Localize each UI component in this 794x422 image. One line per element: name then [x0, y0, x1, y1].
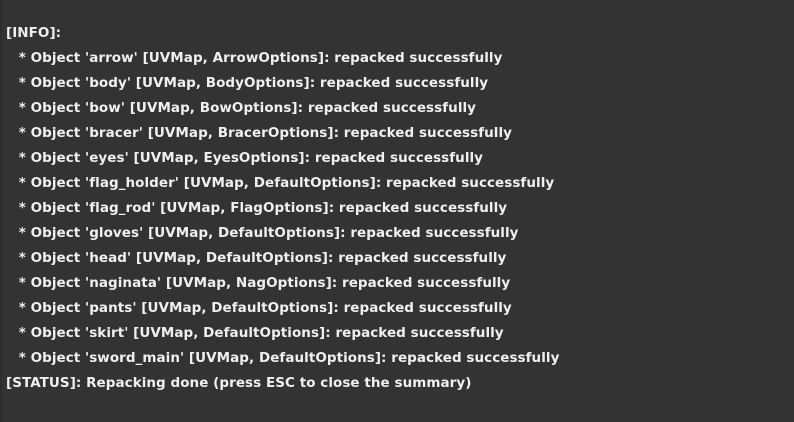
log-line-object-body: * Object 'body' [UVMap, BodyOptions]: re…	[0, 71, 794, 96]
log-line-info-header: [INFO]:	[0, 21, 794, 46]
log-line-object-pants: * Object 'pants' [UVMap, DefaultOptions]…	[0, 296, 794, 321]
log-line-object-bracer: * Object 'bracer' [UVMap, BracerOptions]…	[0, 121, 794, 146]
log-line-object-head: * Object 'head' [UVMap, DefaultOptions]:…	[0, 246, 794, 271]
log-line-object-flag-holder: * Object 'flag_holder' [UVMap, DefaultOp…	[0, 171, 794, 196]
log-line-object-arrow: * Object 'arrow' [UVMap, ArrowOptions]: …	[0, 46, 794, 71]
log-line-object-eyes: * Object 'eyes' [UVMap, EyesOptions]: re…	[0, 146, 794, 171]
log-line-object-bow: * Object 'bow' [UVMap, BowOptions]: repa…	[0, 96, 794, 121]
log-line-status: [STATUS]: Repacking done (press ESC to c…	[0, 371, 794, 396]
log-line-object-sword-main: * Object 'sword_main' [UVMap, DefaultOpt…	[0, 346, 794, 371]
log-line-object-gloves: * Object 'gloves' [UVMap, DefaultOptions…	[0, 221, 794, 246]
log-line-list: [INFO]: * Object 'arrow' [UVMap, ArrowOp…	[0, 0, 794, 396]
repack-summary-overlay: [INFO]: * Object 'arrow' [UVMap, ArrowOp…	[0, 0, 794, 422]
log-line-object-naginata: * Object 'naginata' [UVMap, NagOptions]:…	[0, 271, 794, 296]
log-line-object-flag-rod: * Object 'flag_rod' [UVMap, FlagOptions]…	[0, 196, 794, 221]
log-line-object-skirt: * Object 'skirt' [UVMap, DefaultOptions]…	[0, 321, 794, 346]
